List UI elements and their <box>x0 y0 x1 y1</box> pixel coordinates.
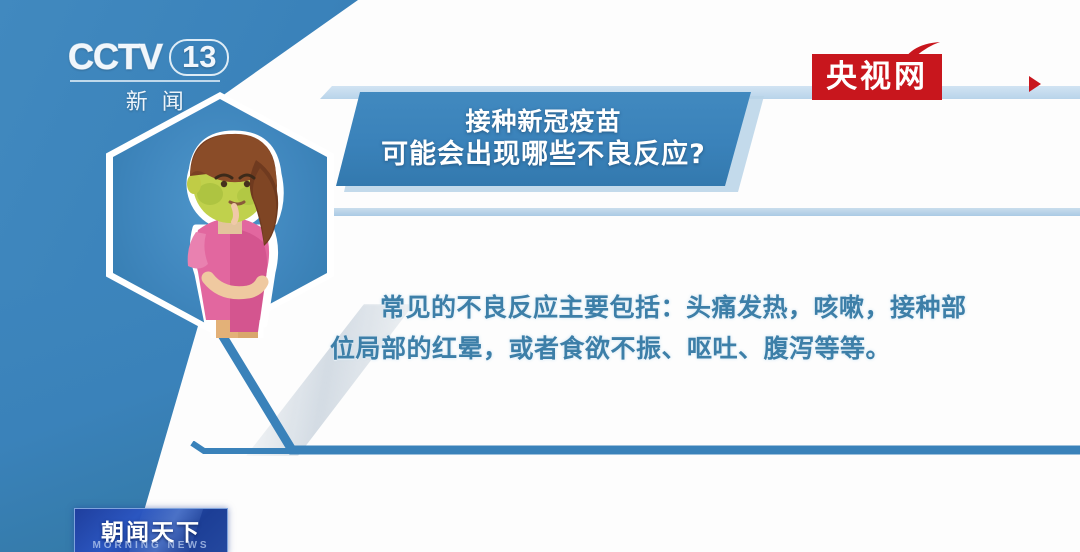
cctv-logo-underline <box>70 80 220 82</box>
play-triangle-icon <box>1029 76 1041 92</box>
hexagon-portrait-frame <box>106 92 334 338</box>
headline-line-1: 接种新冠疫苗 <box>465 106 621 138</box>
cctv-com-watermark: 央视网 <box>812 40 952 102</box>
cctv-wordmark: CCTV <box>68 36 162 78</box>
headline-band: 接种新冠疫苗 可能会出现哪些不良反应? <box>336 92 751 186</box>
program-banner: 朝闻天下 MORNING NEWS <box>74 508 228 552</box>
cctv-com-logo-box: 央视网 <box>812 54 942 100</box>
cctv-channel-number: 13 <box>169 39 229 76</box>
sick-person-illustration <box>106 92 334 338</box>
horizontal-blue-rule <box>190 441 1080 455</box>
broadcast-frame: CCTV 13 新闻 <box>0 0 1080 552</box>
program-subtitle: MORNING NEWS <box>75 540 227 551</box>
body-paragraph: 常见的不良反应主要包括：头痛发热，咳嗽，接种部位局部的红晕，或者食欲不振、呕吐、… <box>330 288 990 369</box>
cctv-com-logo-text: 央视网 <box>826 62 928 93</box>
cctv-logo-row: CCTV 13 <box>68 36 229 78</box>
headline-line-2: 可能会出现哪些不良反应? <box>381 138 706 173</box>
